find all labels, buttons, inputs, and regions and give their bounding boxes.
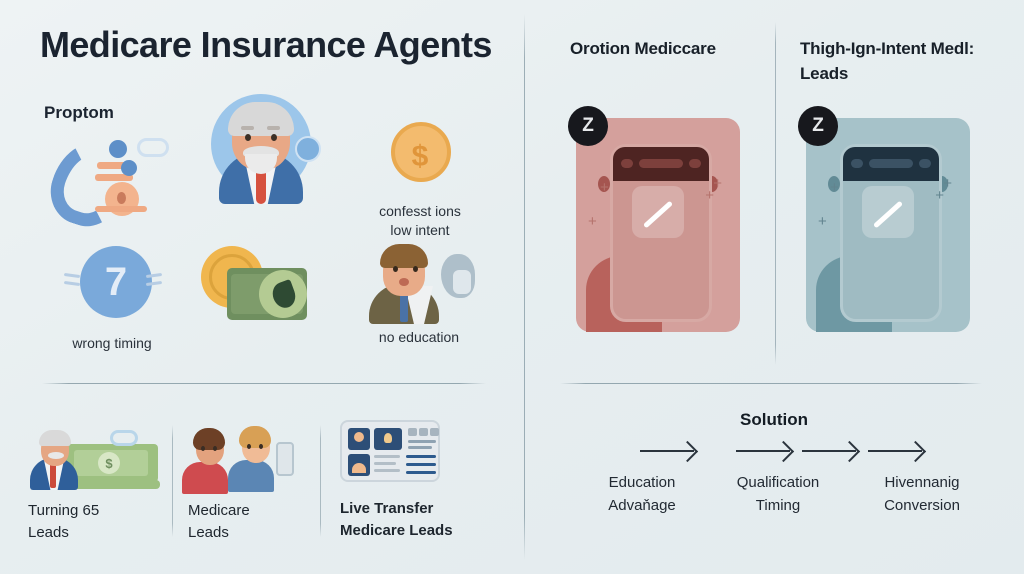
- sparkle-icon: +: [713, 176, 722, 191]
- sparkle-icon: +: [600, 180, 609, 195]
- page-title: Medicare Insurance Agents: [40, 24, 492, 66]
- card-divider-vertical: [775, 22, 776, 365]
- problem-item-phone: [44, 128, 172, 214]
- sparkle-icon: +: [830, 180, 839, 195]
- z-badge-icon: Z: [798, 106, 838, 146]
- solution-step-conversion: Hivennanig Conversion: [854, 472, 990, 517]
- lead-card-separator-2: [320, 425, 321, 537]
- lead-type-medicare[interactable]: Medicare Leads: [188, 424, 318, 544]
- problem-item-wrong-timing: 7 wrong timing: [56, 240, 168, 353]
- lead-type-turning-65[interactable]: $ Turning 65 Leads: [28, 424, 168, 544]
- card-orotion-mediccare[interactable]: Z + + + +: [576, 118, 740, 332]
- problem-caption: wrong timing: [56, 334, 168, 353]
- solution-title: Solution: [524, 410, 1024, 430]
- coin-money-icon: [197, 244, 313, 328]
- z-badge-icon: Z: [568, 106, 608, 146]
- card-title-orotion: Orotion Mediccare: [570, 36, 716, 61]
- problem-caption: no education: [352, 328, 486, 347]
- arrow-icon: [736, 450, 790, 452]
- sparkle-icon: +: [943, 176, 952, 191]
- senior-money-icon: $: [28, 424, 168, 492]
- sparkle-icon: +: [705, 188, 714, 203]
- two-women-icon: [188, 424, 318, 492]
- arrow-icon: [640, 450, 694, 452]
- sparkle-icon: +: [818, 214, 827, 229]
- phone-caller-icon: [49, 128, 167, 214]
- lead-card-separator-1: [172, 425, 173, 537]
- arrow-icon: [868, 450, 922, 452]
- dollar-coin-icon: $: [383, 120, 457, 194]
- blocked-slash-icon: [862, 186, 914, 238]
- phone-notch: [843, 147, 939, 181]
- card-title-high-intent: Thigh-Ign-Intent Medl: Leads: [800, 36, 1024, 86]
- problem-section-label: Proptom: [44, 103, 114, 123]
- infographic-canvas: Medicare Insurance Agents Proptom: [0, 0, 1024, 574]
- clock-seven-icon: 7: [60, 240, 164, 330]
- lead-type-label: Turning 65 Leads: [28, 500, 168, 544]
- agent-no-education-icon: [359, 240, 479, 324]
- problem-item-senior: [196, 92, 326, 204]
- solution-step-education: Education Advaňage: [580, 472, 704, 517]
- id-card-icon: [340, 420, 500, 490]
- lead-type-live-transfer[interactable]: Live Transfer Medicare Leads: [340, 420, 500, 542]
- blocked-slash-icon: [632, 186, 684, 238]
- right-section-divider: [560, 383, 982, 384]
- solution-step-qualification: Qualification Timing: [716, 472, 840, 517]
- sparkle-icon: +: [935, 188, 944, 203]
- lead-type-label: Live Transfer Medicare Leads: [340, 498, 500, 542]
- lead-type-label: Medicare Leads: [188, 500, 318, 544]
- left-section-divider: [42, 383, 486, 384]
- panel-divider-vertical: [524, 14, 525, 560]
- problem-caption: confesst ions low intent: [350, 202, 490, 240]
- sparkle-icon: +: [588, 214, 597, 229]
- senior-man-icon: [199, 92, 323, 204]
- card-high-intent-leads[interactable]: Z + + + +: [806, 118, 970, 332]
- arrow-icon: [802, 450, 856, 452]
- problem-item-no-education: no education: [352, 240, 486, 347]
- problem-item-low-intent: $ confesst ions low intent: [350, 120, 490, 240]
- problem-item-money: [192, 244, 318, 328]
- phone-notch: [613, 147, 709, 181]
- solution-arrow-row: [540, 438, 1020, 472]
